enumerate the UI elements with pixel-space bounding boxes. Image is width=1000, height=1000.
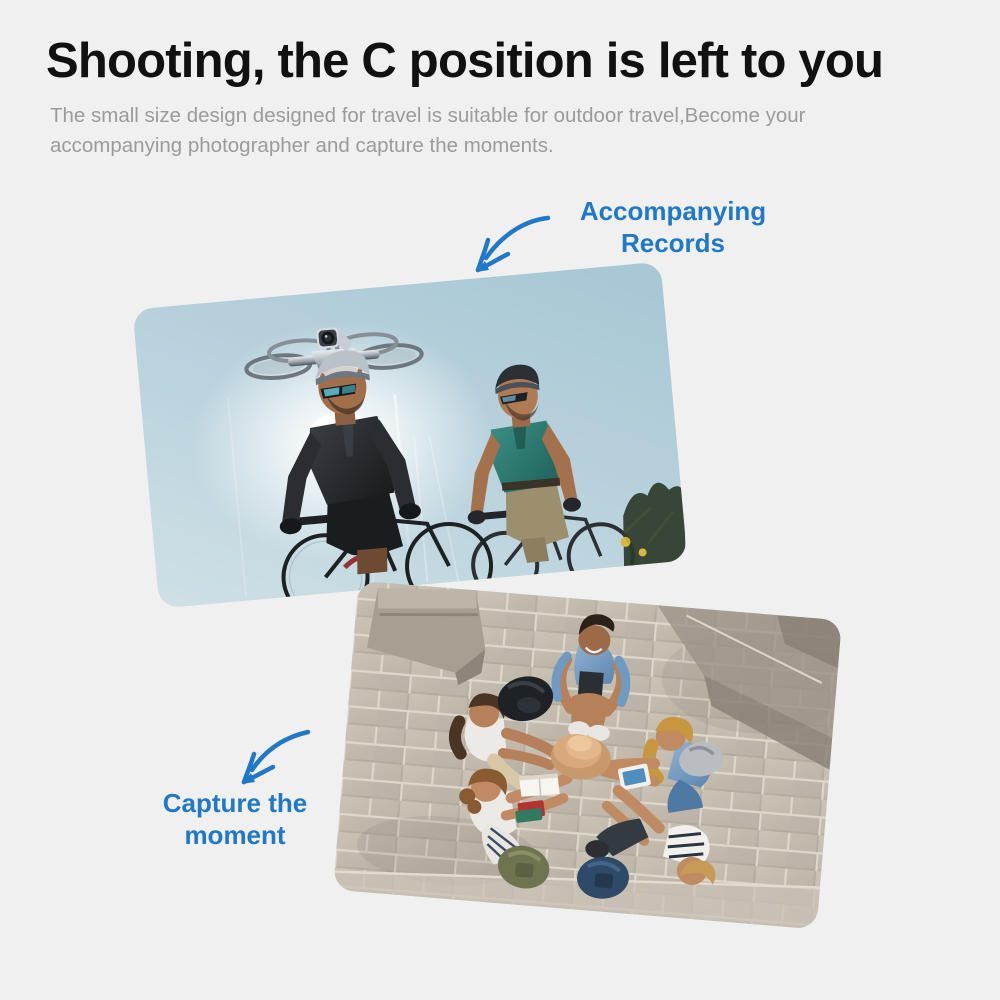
photo-card-friends — [333, 581, 842, 930]
friends-aerial-photo — [333, 581, 842, 930]
cyclists-drone-photo — [132, 262, 687, 609]
annotation-capture-the-moment: Capture the moment — [120, 788, 350, 851]
page-title: Shooting, the C position is left to you — [46, 36, 966, 87]
header-block: Shooting, the C position is left to you … — [46, 36, 966, 162]
curved-arrow-down-left-icon — [232, 730, 312, 792]
annotation-accompanying-records: Accompanying Records — [548, 196, 798, 259]
curved-arrow-down-left-icon — [462, 212, 552, 282]
page-subtitle: The small size design designed for trave… — [50, 101, 940, 162]
photo-card-cyclists — [132, 262, 687, 609]
